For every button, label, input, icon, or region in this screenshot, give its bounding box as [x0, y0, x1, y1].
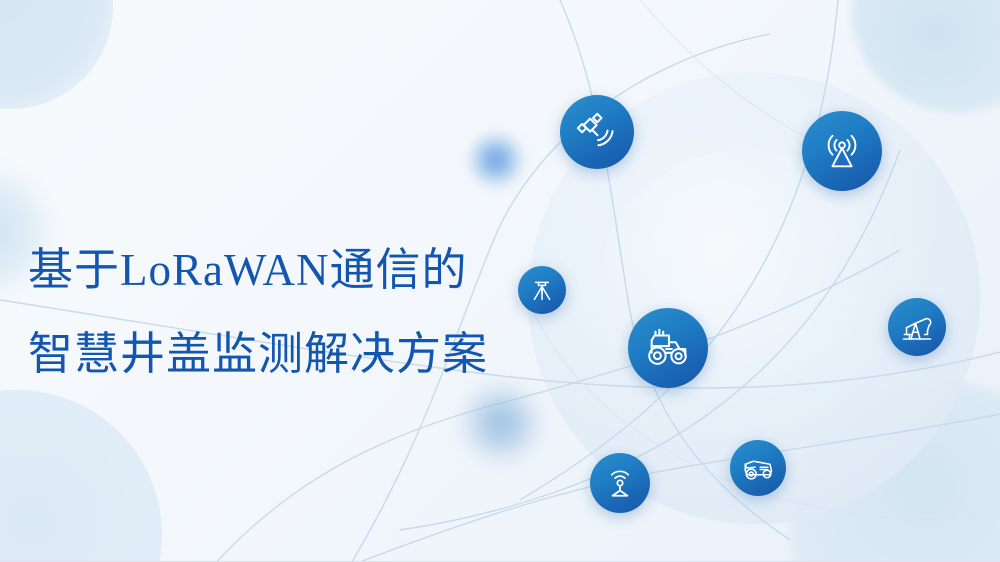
oil-pumpjack-icon: [899, 309, 935, 345]
title-line-1: 基于LoRaWAN通信的: [28, 228, 548, 312]
node-gps-beacon[interactable]: [590, 453, 650, 513]
title-block: 基于LoRaWAN通信的 智慧井盖监测解决方案: [28, 228, 548, 396]
node-radio-tower[interactable]: [802, 111, 882, 191]
title-slide: 基于LoRaWAN通信的 智慧井盖监测解决方案: [0, 0, 1000, 562]
title-line-2: 智慧井盖监测解决方案: [28, 312, 548, 396]
robot-mower-icon: [740, 450, 776, 486]
node-satellite[interactable]: [560, 95, 634, 169]
node-oil-pumpjack[interactable]: [888, 298, 946, 356]
tractor-icon: [643, 323, 693, 373]
node-tractor[interactable]: [628, 308, 708, 388]
radio-tower-icon: [819, 128, 865, 174]
gps-beacon-icon: [602, 465, 638, 501]
node-robot-mower[interactable]: [730, 440, 786, 496]
satellite-icon: [575, 110, 619, 154]
